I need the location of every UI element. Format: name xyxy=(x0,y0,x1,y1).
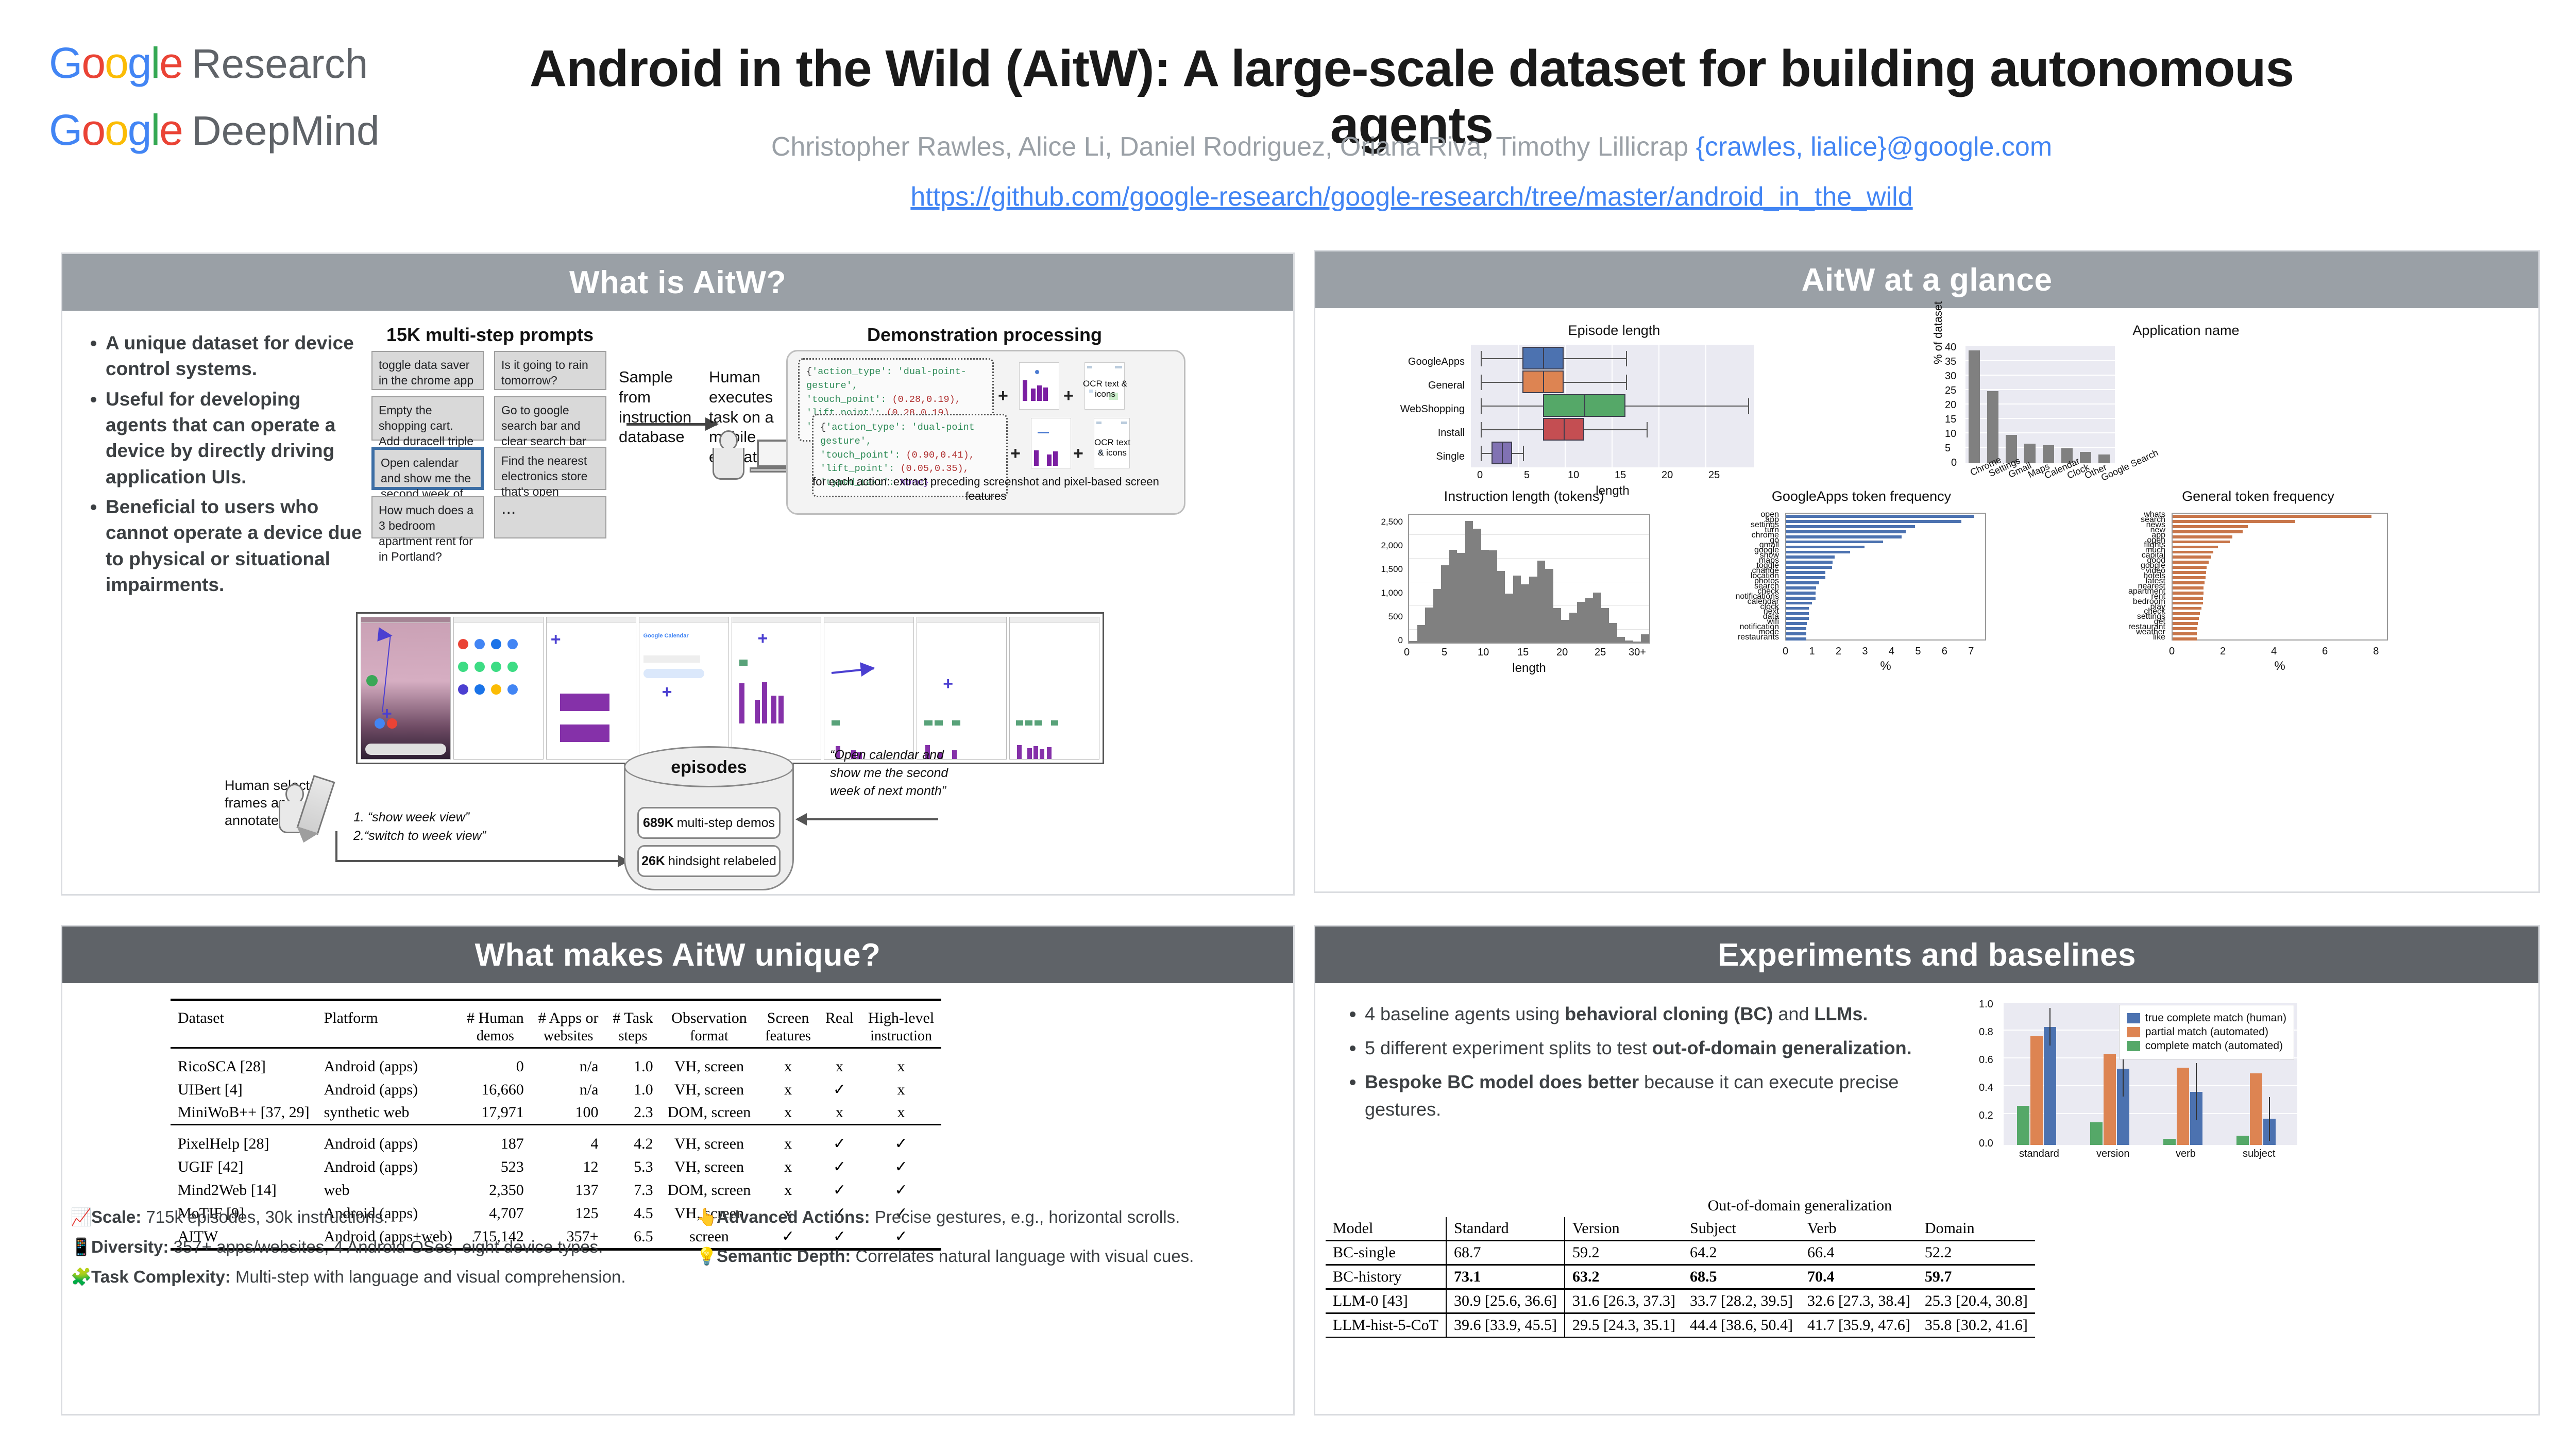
chart-icon: 📈 xyxy=(71,1205,91,1229)
ytick-label: Install xyxy=(1351,427,1465,439)
feature-text: Correlates natural language with visual … xyxy=(851,1246,1194,1266)
ytick-label: 0.4 xyxy=(1979,1082,1993,1094)
table-cell-model: BC-single xyxy=(1326,1241,1446,1265)
error-bar xyxy=(2269,1097,2270,1141)
screenshot-strip: + + xyxy=(356,612,1104,764)
bar xyxy=(2173,607,2201,610)
json-key: 'touch_point': xyxy=(820,450,900,461)
ytick-label: WebShopping xyxy=(1351,403,1465,415)
table-row: UGIF [42]Android (apps)523125.3VH, scree… xyxy=(171,1155,941,1178)
prompt-card[interactable]: Is it going to rain tomorrow? xyxy=(494,351,606,390)
arrow-right-icon xyxy=(626,423,717,426)
ytick-label: 35 xyxy=(1945,356,1956,368)
json-key: 'action_type': xyxy=(812,366,892,377)
column-header: Subject xyxy=(1683,1217,1800,1241)
xtick-label: 0 xyxy=(1477,469,1483,481)
yaxis-label: % of dataset xyxy=(1931,272,1945,364)
column-header: High-levelinstruction xyxy=(861,1000,941,1048)
bar xyxy=(2173,612,2200,615)
table-cell: ✓ xyxy=(818,1125,861,1156)
list-item: 🧩Task Complexity: Multi-step with langua… xyxy=(71,1265,679,1289)
plus-icon: + xyxy=(998,386,1008,406)
bar xyxy=(1786,546,1865,549)
xtick-label: 25 xyxy=(1708,469,1720,481)
table-cell: ✓ xyxy=(861,1178,941,1202)
bullet-text: 5 different experiment splits to test xyxy=(1365,1037,1652,1058)
table-cell: Android (apps) xyxy=(317,1155,460,1178)
logo-suffix-deepmind: DeepMind xyxy=(192,110,380,151)
ytick-label: 40 xyxy=(1945,342,1956,353)
table-cell: 44.4 [38.6, 50.4] xyxy=(1683,1313,1800,1338)
bar xyxy=(2173,546,2218,549)
plus-icon: + xyxy=(1010,444,1021,464)
prompt-card[interactable]: toggle data saver in the chrome app xyxy=(371,351,484,390)
xtick-label: 20 xyxy=(1556,647,1568,659)
cylinder-item-demos: 689Kmulti-step demos xyxy=(637,807,781,839)
xaxis-label: % xyxy=(2172,659,2388,673)
xtick-label: 5 xyxy=(1442,647,1447,659)
column-header: # Humandemos xyxy=(460,1000,531,1048)
table-row: LLM-0 [43]30.9 [25.6, 36.6]31.6 [26.3, 3… xyxy=(1326,1289,2035,1313)
column-header: Real xyxy=(818,1000,861,1048)
xtick-label: 8 xyxy=(2373,646,2379,658)
bar xyxy=(1786,586,1816,589)
table-cell: 12 xyxy=(531,1155,606,1178)
bar xyxy=(2177,1068,2189,1145)
legend-item: true complete match (human) xyxy=(2127,1012,2286,1024)
bar xyxy=(2173,525,2248,528)
table-cell: 523 xyxy=(460,1155,531,1178)
phone-screenshot-apps xyxy=(453,617,544,760)
table-cell: 187 xyxy=(460,1125,531,1156)
ytick-label: 5 xyxy=(1945,443,1951,454)
bar xyxy=(2236,1136,2249,1145)
bar xyxy=(2173,597,2203,600)
prompt-card[interactable]: Go to google search bar and clear search… xyxy=(494,396,606,441)
table-cell: 31.6 [26.3, 37.3] xyxy=(1565,1289,1683,1313)
bar xyxy=(1786,515,1974,518)
table-cell: 64.2 xyxy=(1683,1241,1800,1265)
bar xyxy=(1786,637,1806,641)
bar xyxy=(1786,576,1825,579)
google-deepmind-logo: Google DeepMind xyxy=(49,108,440,151)
list-item: A unique dataset for device control syst… xyxy=(106,330,364,382)
legend-swatch xyxy=(2127,1013,2140,1023)
phone-screenshot-month-june-1: + xyxy=(917,617,1007,760)
list-item: 👆Advanced Actions: Precise gestures, e.g… xyxy=(696,1205,1278,1229)
table-cell: 16,660 xyxy=(460,1078,531,1101)
bar xyxy=(2173,627,2197,630)
ytick-label: 1,000 xyxy=(1346,588,1403,598)
panel-aitw-at-a-glance: AitW at a glance Episode length GoogleAp… xyxy=(1314,250,2540,893)
panel-experiments-and-baselines: Experiments and baselines 4 baseline age… xyxy=(1314,925,2540,1416)
chart-application-name: Application name % of dataset 40 35 30 2… xyxy=(1928,323,2444,495)
column-header: Screenfeatures xyxy=(758,1000,818,1048)
chart-title: General token frequency xyxy=(2062,488,2454,504)
legend-label: true complete match (human) xyxy=(2145,1012,2286,1024)
error-bar xyxy=(2196,1063,2197,1120)
table-cell: Android (apps) xyxy=(317,1125,460,1156)
plot-area xyxy=(1471,345,1754,467)
table-cell: x xyxy=(861,1101,941,1125)
table-cell: ✓ xyxy=(818,1178,861,1202)
bar xyxy=(2173,602,2203,605)
table-cell: Android (apps) xyxy=(317,1078,460,1101)
xtick-label: 20 xyxy=(1662,469,1673,481)
column-header: Standard xyxy=(1446,1217,1565,1241)
google-research-logo: Google Research xyxy=(49,41,440,85)
json-key: 'lift_point': xyxy=(820,463,894,474)
chart-match-rates: 1.0 0.8 0.6 0.4 0.2 0.0 xyxy=(1979,995,2515,1175)
chart-episode-length: Episode length GoogleApps General WebSho… xyxy=(1351,323,1877,477)
supercolumn-header: Out-of-domain generalization xyxy=(1565,1194,2035,1217)
results-table: Out-of-domain generalizationModelStandar… xyxy=(1326,1194,2035,1339)
arrowhead-icon xyxy=(795,813,807,825)
table-cell: x xyxy=(758,1155,818,1178)
ytick-label: like xyxy=(2062,633,2165,642)
screenshot-thumbnail xyxy=(1031,418,1071,468)
cylinder-title: episodes xyxy=(624,757,794,778)
column-header: Version xyxy=(1565,1217,1683,1241)
table-cell: x xyxy=(818,1101,861,1125)
table-cell: PixelHelp [28] xyxy=(171,1125,317,1156)
xtick-label: 4 xyxy=(1889,646,1894,658)
xtick-label: 10 xyxy=(1568,469,1579,481)
bar xyxy=(1786,622,1807,625)
google-wordmark: Google xyxy=(49,108,182,151)
prompt-card[interactable]: How much does a 3 bedroom apartment rent… xyxy=(371,496,484,538)
table-cell: 59.2 xyxy=(1565,1241,1683,1265)
bar xyxy=(2173,571,2206,574)
table-cell: 2.3 xyxy=(605,1101,660,1125)
bar xyxy=(2173,592,2204,595)
json-value: (0.28,0.19), xyxy=(892,394,961,405)
table-cell: 63.2 xyxy=(1565,1265,1683,1289)
legend-swatch xyxy=(2127,1027,2140,1037)
prompt-card[interactable]: Empty the shopping cart. Add duracell tr… xyxy=(371,396,484,441)
person-icon xyxy=(713,430,744,480)
phone-screenshot-day-view: + xyxy=(546,617,636,760)
table-cell: DOM, screen xyxy=(660,1101,758,1125)
panel-header-unique: What makes AitW unique? xyxy=(62,926,1293,983)
table-cell: 29.5 [24.3, 35.1] xyxy=(1565,1313,1683,1338)
prompts-title: 15K multi-step prompts xyxy=(371,324,608,346)
puzzle-icon: 🧩 xyxy=(71,1265,91,1289)
table-cell: RicoSCA [28] xyxy=(171,1048,317,1079)
ytick-label: 1,500 xyxy=(1346,564,1403,575)
bar xyxy=(2173,551,2213,554)
xtick-label: 10 xyxy=(1478,647,1489,659)
bar xyxy=(2173,566,2207,569)
xtick-label: 0 xyxy=(2169,646,2175,658)
list-item: Beneficial to users who cannot operate a… xyxy=(106,494,364,598)
google-wordmark: Google xyxy=(49,41,182,85)
instruction-quote: “Open calendar and show me the second we… xyxy=(830,746,964,800)
table-cell: x xyxy=(861,1048,941,1079)
bullet-text: 4 baseline agents using xyxy=(1365,1003,1565,1024)
xtick-label: 4 xyxy=(2271,646,2277,658)
list-item: 📈Scale: 715k episodes, 30k instructions. xyxy=(71,1205,679,1229)
bar xyxy=(1786,632,1806,635)
ytick-label: 2,500 xyxy=(1346,517,1403,527)
ytick-label: 2,000 xyxy=(1346,541,1403,551)
column-header: # Tasksteps xyxy=(605,1000,660,1048)
bar xyxy=(2173,561,2209,564)
table-row: Mind2Web [14]web2,3501377.3DOM, screenx✓… xyxy=(171,1178,941,1202)
panel-header-experiments: Experiments and baselines xyxy=(1315,926,2538,983)
plot-area: true complete match (human) partial matc… xyxy=(2004,1002,2297,1145)
xtick-label: 15 xyxy=(1517,647,1529,659)
feature-text: 715k episodes, 30k instructions. xyxy=(141,1207,388,1226)
legend-label: complete match (automated) xyxy=(2145,1040,2283,1052)
xtick-label: 7 xyxy=(1968,646,1974,658)
bar xyxy=(2173,520,2295,523)
plot-area xyxy=(1408,514,1650,644)
bar xyxy=(2173,530,2243,533)
results-table-wrapper: Out-of-domain generalizationModelStandar… xyxy=(1326,1194,2035,1339)
ytick-label: 0.8 xyxy=(1979,1026,1993,1038)
author-names: Christopher Rawles, Alice Li, Daniel Rod… xyxy=(771,132,1688,162)
ytick-label: 0.2 xyxy=(1979,1110,1993,1122)
table-cell: x xyxy=(758,1125,818,1156)
table-cell: 1.0 xyxy=(605,1048,660,1079)
bar xyxy=(2173,535,2232,538)
bar xyxy=(2163,1139,2176,1145)
xtick-label: 0 xyxy=(1783,646,1788,658)
panel-what-makes-aitw-unique: What makes AitW unique? DatasetPlatform#… xyxy=(61,925,1295,1416)
table-cell-model: BC-history xyxy=(1326,1265,1446,1289)
ytick-label: 10 xyxy=(1945,428,1956,440)
table-cell: 0 xyxy=(460,1048,531,1079)
bar xyxy=(2173,586,2204,589)
demo-caption: for each action: extract preceding scree… xyxy=(791,475,1180,503)
bar xyxy=(2104,1054,2116,1145)
column-header: Dataset xyxy=(171,1000,317,1048)
table-cell: ✓ xyxy=(861,1125,941,1156)
column-header: Model xyxy=(1326,1217,1446,1241)
bar xyxy=(1786,525,1915,528)
bar xyxy=(1786,607,1809,610)
table-row: UIBert [4]Android (apps)16,660n/a1.0VH, … xyxy=(171,1078,941,1101)
table-cell: VH, screen xyxy=(660,1125,758,1156)
table-cell: 39.6 [33.9, 45.5] xyxy=(1446,1313,1565,1338)
plot-area xyxy=(1965,346,2115,463)
bar xyxy=(2173,622,2198,625)
legend-label: partial match (automated) xyxy=(2145,1026,2268,1038)
table-cell: DOM, screen xyxy=(660,1178,758,1202)
chart-googleapps-token-frequency: GoogleApps token frequency openappsettin… xyxy=(1676,488,2047,677)
ytick-label: Single xyxy=(1351,451,1465,463)
plot-area xyxy=(1785,513,1986,641)
feature-term: Scale: xyxy=(91,1207,141,1226)
feature-list-left: 📈Scale: 715k episodes, 30k instructions.… xyxy=(71,1205,679,1289)
ytick-label: 20 xyxy=(1945,399,1956,411)
ytick-label: 30 xyxy=(1945,370,1956,382)
ytick-label: 1.0 xyxy=(1979,999,1993,1010)
bar xyxy=(1786,597,1816,600)
bar xyxy=(1786,627,1806,630)
plus-icon: + xyxy=(1063,386,1074,406)
phone-icon: 📱 xyxy=(71,1235,91,1259)
connector-line xyxy=(335,831,337,862)
chart-general-token-frequency: General token frequency whatssearchnewsn… xyxy=(2062,488,2454,677)
relabel-count: 26K xyxy=(641,854,665,869)
repo-link[interactable]: https://github.com/google-research/googl… xyxy=(453,181,2370,212)
table-cell: 52.2 xyxy=(1918,1241,2035,1265)
xtick-label: 5 xyxy=(1915,646,1921,658)
bullet-bold: LLMs. xyxy=(1814,1003,1868,1024)
feature-list-right: 👆Advanced Actions: Precise gestures, e.g… xyxy=(696,1205,1278,1269)
json-key: 'touch_point': xyxy=(806,394,886,405)
ytick-label: GoogleApps xyxy=(1351,356,1465,368)
bar xyxy=(1786,541,1883,544)
feature-text: Multi-step with language and visual comp… xyxy=(231,1267,626,1286)
bullet-bold: out-of-domain generalization. xyxy=(1652,1037,1912,1058)
table-cell: ✓ xyxy=(818,1078,861,1101)
table-cell: Android (apps) xyxy=(317,1048,460,1079)
arrow-left-icon xyxy=(802,818,938,820)
column-header: # Apps orwebsites xyxy=(531,1000,606,1048)
bar xyxy=(2173,576,2206,579)
table-cell: 33.7 [28.2, 39.5] xyxy=(1683,1289,1800,1313)
xtick-label: 6 xyxy=(1942,646,1947,658)
ytick-label: restaurants xyxy=(1676,633,1779,642)
table-cell-model: LLM-hist-5-CoT xyxy=(1326,1313,1446,1338)
list-item: 5 different experiment splits to test ou… xyxy=(1365,1035,1955,1062)
table-cell: 70.4 xyxy=(1800,1265,1918,1289)
bar xyxy=(1786,561,1833,564)
arrow-right-icon xyxy=(335,860,624,862)
xtick-label: 25 xyxy=(1595,647,1606,659)
bar xyxy=(2173,617,2199,620)
phone-screenshot-month-june-2 xyxy=(1009,617,1099,760)
feature-text: 357+ apps/websites, 4 Android OSes, eigh… xyxy=(168,1237,603,1256)
error-bar xyxy=(2049,1008,2050,1046)
feature-term: Advanced Actions: xyxy=(717,1207,870,1226)
flow-label-sample: Sample from instruction database xyxy=(619,367,693,447)
chart-legend: true complete match (human) partial matc… xyxy=(2119,1005,2294,1059)
table-cell: UIBert [4] xyxy=(171,1078,317,1101)
ytick-label: 0.0 xyxy=(1979,1138,1993,1150)
bar xyxy=(1786,617,1809,620)
table-cell: 73.1 xyxy=(1446,1265,1565,1289)
table-cell: UGIF [42] xyxy=(171,1155,317,1178)
legend-item: partial match (automated) xyxy=(2127,1026,2286,1038)
table-cell: MiniWoB++ [37, 29] xyxy=(171,1101,317,1125)
ocr-label: OCR text & icons xyxy=(1092,437,1133,459)
bar xyxy=(1786,535,1902,538)
feature-term: Task Complexity: xyxy=(91,1267,231,1286)
xtick-label: 3 xyxy=(1862,646,1868,658)
prompt-card-selected[interactable]: Open calendar and show me the second wee… xyxy=(371,447,484,490)
relabel-instructions: 1. “show week view” 2.“switch to week vi… xyxy=(353,808,523,846)
table-cell: 41.7 [35.9, 47.6] xyxy=(1800,1313,1918,1338)
prompt-card-ellipsis: ... xyxy=(494,496,606,538)
relabel-line-1: 1. “show week view” xyxy=(353,808,523,827)
prompt-card[interactable]: Find the nearest electronics store that'… xyxy=(494,447,606,490)
bar xyxy=(2030,1036,2043,1145)
table-cell: 1.0 xyxy=(605,1078,660,1101)
xtick-label: 6 xyxy=(2322,646,2328,658)
column-header: Observationformat xyxy=(660,1000,758,1048)
ytick-label: 15 xyxy=(1945,414,1956,426)
xtick-label: 0 xyxy=(1404,647,1410,659)
xtick-label: version xyxy=(2096,1148,2129,1160)
plot-area xyxy=(2172,513,2388,641)
table-cell: VH, screen xyxy=(660,1155,758,1178)
list-item: Useful for developing agents that can op… xyxy=(106,386,364,490)
bar xyxy=(1786,520,1961,523)
table-cell: web xyxy=(317,1178,460,1202)
bar xyxy=(1786,612,1809,615)
bar xyxy=(1786,592,1816,595)
json-key: 'action_type': xyxy=(826,422,906,433)
list-item: 4 baseline agents using behavioral cloni… xyxy=(1365,1001,1955,1027)
bullet-text: and xyxy=(1773,1003,1814,1024)
xtick-label: 15 xyxy=(1615,469,1626,481)
xaxis-label: length xyxy=(1408,661,1650,676)
pointing-hand-icon: 👆 xyxy=(696,1205,717,1229)
legend-swatch xyxy=(2127,1041,2140,1051)
bar xyxy=(2173,555,2211,559)
feature-term: Diversity: xyxy=(91,1237,168,1256)
table-cell: 30.9 [25.6, 36.6] xyxy=(1446,1289,1565,1313)
demo-count: 689K xyxy=(643,816,674,831)
table-cell: 68.7 xyxy=(1446,1241,1565,1265)
bullet-bold: behavioral cloning (BC) xyxy=(1565,1003,1773,1024)
phone-screenshot-week-1: + xyxy=(732,617,822,760)
bar xyxy=(1786,555,1835,559)
list-item: 💡Semantic Depth: Correlates natural lang… xyxy=(696,1244,1278,1269)
table-cell: 7.3 xyxy=(605,1178,660,1202)
what-is-bullet-list: A unique dataset for device control syst… xyxy=(83,330,364,602)
table-cell: ✓ xyxy=(818,1155,861,1178)
bar xyxy=(1786,530,1906,533)
xaxis-label: % xyxy=(1785,659,1986,673)
table-row: BC-single68.759.264.266.452.2 xyxy=(1326,1241,2035,1265)
table-cell: 5.3 xyxy=(605,1155,660,1178)
table-cell: 4 xyxy=(531,1125,606,1156)
table-cell: 25.3 [20.4, 30.8] xyxy=(1918,1289,2035,1313)
table-cell: VH, screen xyxy=(660,1078,758,1101)
chart-title: GoogleApps token frequency xyxy=(1676,488,2047,504)
bar xyxy=(1786,581,1819,584)
column-header xyxy=(1326,1194,1446,1217)
chart-title: Instruction length (tokens) xyxy=(1346,488,1702,504)
ytick-label: 0 xyxy=(1346,635,1403,646)
ocr-label: OCR text & icons xyxy=(1081,379,1129,400)
json-value: (0.90,0.41), xyxy=(906,450,975,461)
table-cell: 17,971 xyxy=(460,1101,531,1125)
chart-title: Application name xyxy=(1928,323,2444,339)
demo-count-label: multi-step demos xyxy=(677,816,775,831)
table-cell: 4.2 xyxy=(605,1125,660,1156)
table-cell: 32.6 [27.3, 38.4] xyxy=(1800,1289,1918,1313)
table-cell: 66.4 xyxy=(1800,1241,1918,1265)
author-emails: {crawles, lialice}@google.com xyxy=(1696,132,2053,162)
cylinder-item-relabeled: 26Khindsight relabeled xyxy=(637,845,781,877)
table-cell: x xyxy=(758,1178,818,1202)
column-header: Platform xyxy=(317,1000,460,1048)
bullet-bold: Bespoke BC model does better xyxy=(1365,1071,1639,1092)
bar xyxy=(1786,602,1812,605)
ytick-label: 25 xyxy=(1945,385,1956,397)
panel-what-is-aitw: What is AitW? A unique dataset for devic… xyxy=(61,252,1295,896)
xtick-label: 30+ xyxy=(1629,647,1646,659)
table-cell: 137 xyxy=(531,1178,606,1202)
column-header: Domain xyxy=(1918,1217,2035,1241)
table-cell: 100 xyxy=(531,1101,606,1125)
